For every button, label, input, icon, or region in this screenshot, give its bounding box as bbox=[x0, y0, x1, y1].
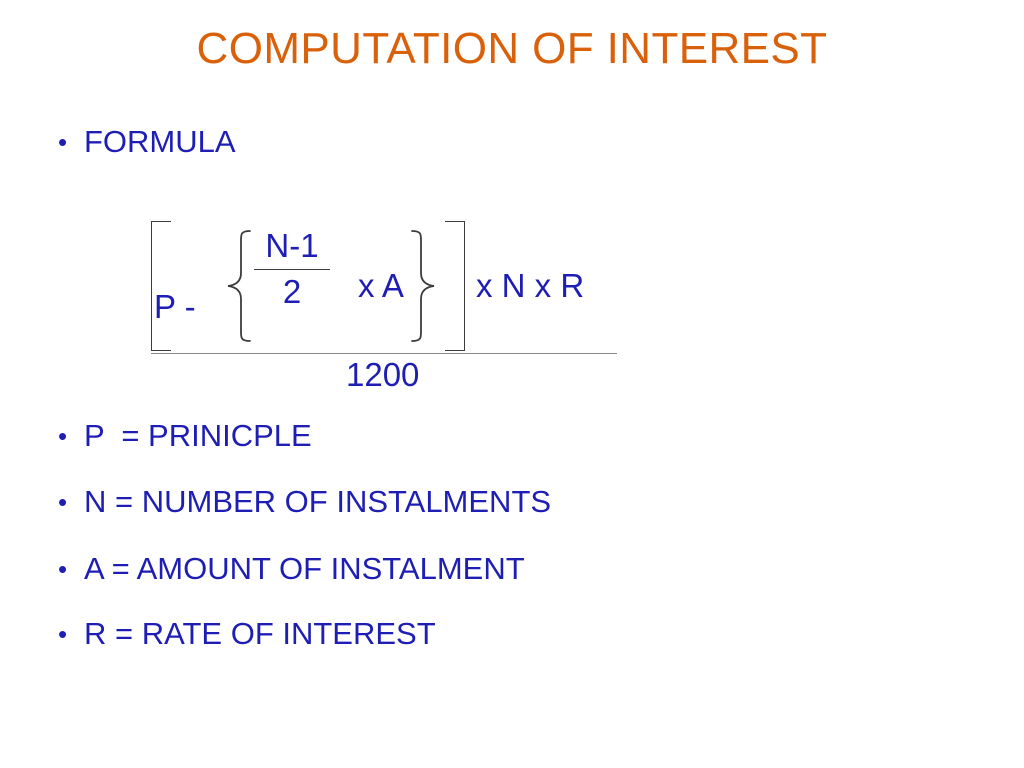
formula-denominator: 1200 bbox=[346, 355, 419, 395]
curly-brace-open-icon bbox=[226, 229, 252, 343]
slide-canvas: COMPUTATION OF INTEREST • FORMULA P - N-… bbox=[0, 0, 1024, 768]
bullet-dot-icon: • bbox=[50, 416, 72, 456]
formula-division-bar bbox=[151, 353, 617, 354]
square-bracket-close-icon bbox=[445, 221, 465, 351]
list-item-label: FORMULA bbox=[72, 122, 236, 162]
square-bracket-open-icon bbox=[151, 221, 171, 351]
curly-brace-close-icon bbox=[410, 229, 436, 343]
list-item-label: R = RATE OF INTEREST bbox=[72, 614, 436, 654]
fraction-bar bbox=[254, 269, 330, 270]
list-item: • A = AMOUNT OF INSTALMENT bbox=[50, 545, 980, 593]
bullet-dot-icon: • bbox=[50, 614, 72, 654]
fraction: N-1 2 bbox=[252, 227, 332, 312]
list-item-label: A = AMOUNT OF INSTALMENT bbox=[72, 549, 525, 589]
formula-inner-multiplier: x A bbox=[358, 268, 404, 304]
list-item: • R = RATE OF INTEREST bbox=[50, 610, 980, 658]
formula-outer-multiplier: x N x R bbox=[476, 268, 584, 304]
formula-leading-term: P - bbox=[154, 289, 196, 325]
bullet-dot-icon: • bbox=[50, 122, 72, 162]
list-item: • N = NUMBER OF INSTALMENTS bbox=[50, 478, 980, 526]
bullet-dot-icon: • bbox=[50, 549, 72, 589]
list-item-label: P = PRINICPLE bbox=[72, 416, 312, 456]
fraction-denominator: 2 bbox=[252, 272, 332, 312]
list-item: • FORMULA bbox=[50, 118, 980, 166]
list-item-label: N = NUMBER OF INSTALMENTS bbox=[72, 482, 551, 522]
list-item: • P = PRINICPLE bbox=[50, 412, 980, 460]
fraction-numerator: N-1 bbox=[252, 227, 332, 265]
bullet-dot-icon: • bbox=[50, 482, 72, 522]
formula-expression: P - N-1 2 x A x N x R 1200 bbox=[140, 205, 660, 400]
page-title: COMPUTATION OF INTEREST bbox=[0, 22, 1024, 76]
